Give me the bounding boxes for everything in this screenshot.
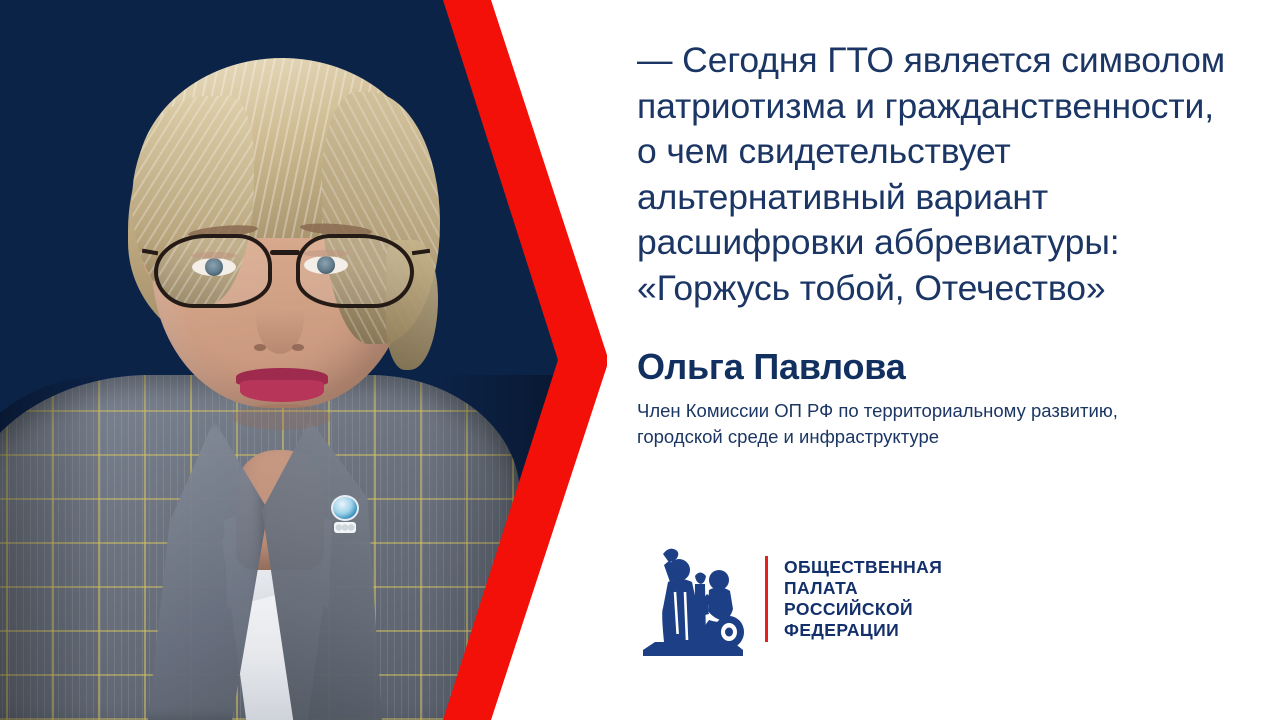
nostril-left [254,344,266,351]
logo-divider-rule [765,556,768,642]
nostril-right [292,344,304,351]
organization-logo: ОБЩЕСТВЕННАЯ ПАЛАТА РОССИЙСКОЙ ФЕДЕРАЦИИ [637,538,942,660]
speaker-title: Член Комиссии ОП РФ по территориальному … [637,387,1137,451]
pin-rings [334,522,356,533]
lens-right [296,234,414,308]
classical-sculpture-emblem-icon [637,538,749,660]
content-column: — Сегодня ГТО является символом патриоти… [637,0,1257,720]
chin-shadow [232,404,332,430]
logo-line-3: РОССИЙСКОЙ [784,599,942,620]
lower-lip [240,380,324,402]
logo-wordmark: ОБЩЕСТВЕННАЯ ПАЛАТА РОССИЙСКОЙ ФЕДЕРАЦИИ [784,557,942,642]
logo-line-1: ОБЩЕСТВЕННАЯ [784,557,942,578]
logo-line-4: ФЕДЕРАЦИИ [784,620,942,641]
glasses-bridge [270,250,300,255]
quote-text: — Сегодня ГТО является символом патриоти… [637,0,1237,312]
nose [256,280,304,354]
suit-shadow-left [0,375,110,720]
olympic-lapel-pin-icon [330,495,360,533]
lens-left [154,234,272,308]
speaker-name: Ольга Павлова [637,312,1257,387]
pin-disc [331,495,359,521]
glasses-temple-right [412,249,430,255]
logo-line-2: ПАЛАТА [784,578,942,599]
quote-card: — Сегодня ГТО является символом патриоти… [0,0,1280,720]
